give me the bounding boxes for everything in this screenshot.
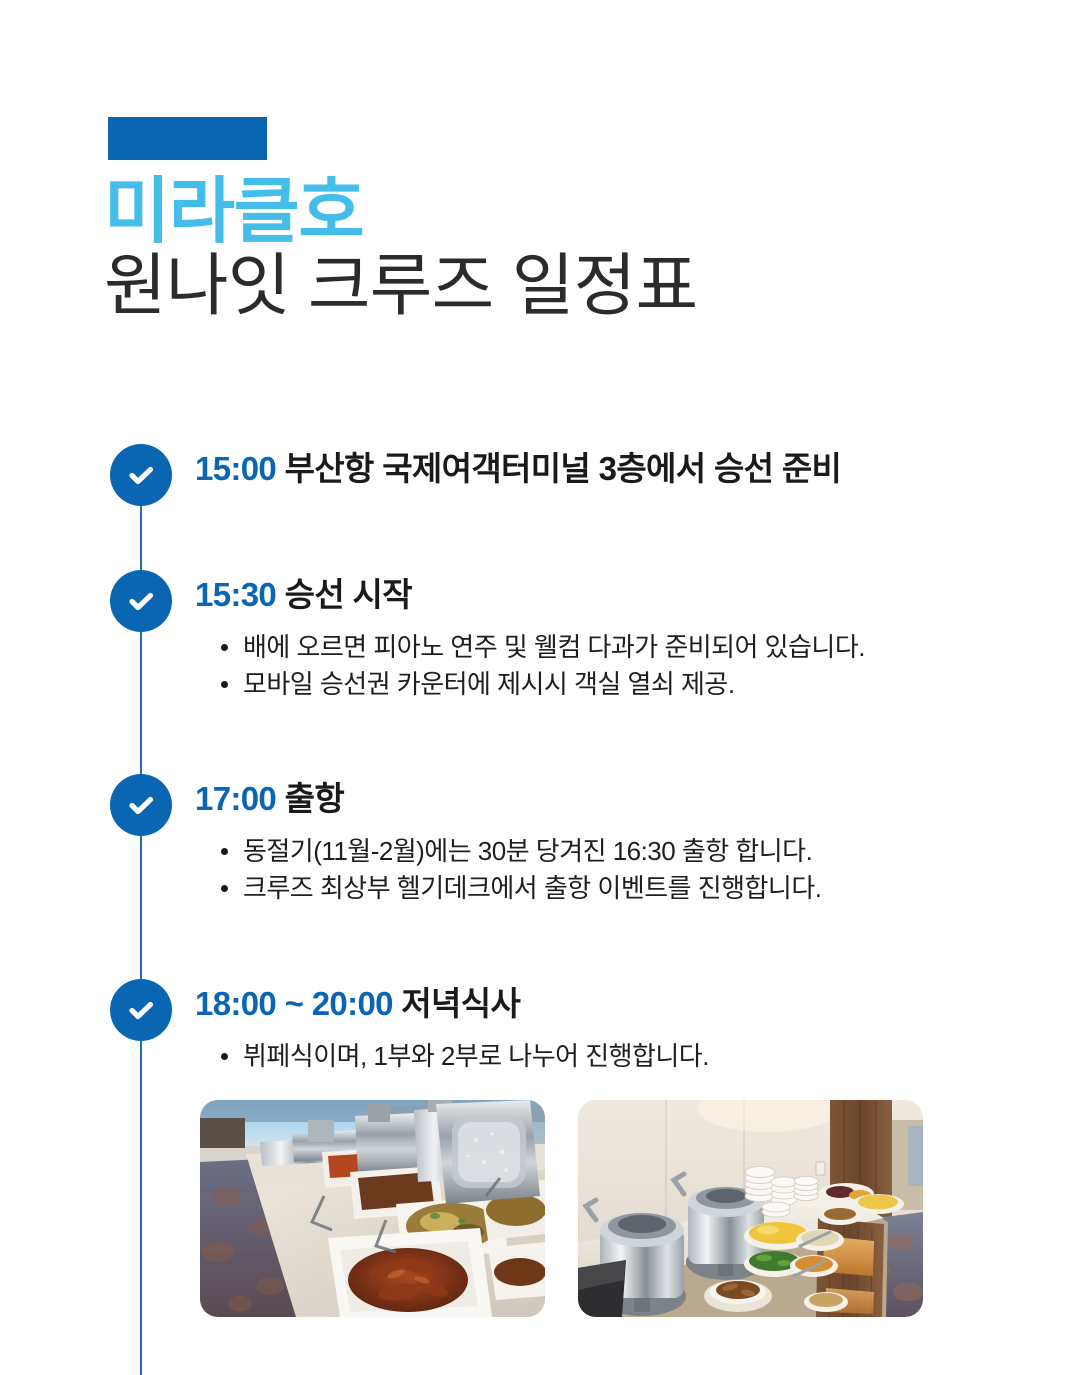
timeline-title: 출항	[285, 780, 344, 817]
check-circle-icon	[110, 774, 172, 836]
buffet-chafing-dishes-photo	[200, 1100, 545, 1317]
check-circle-icon	[110, 979, 172, 1041]
timeline-bullet-list: 뷔페식이며, 1부와 2부로 나누어 진행합니다.	[195, 1038, 1010, 1075]
timeline-heading: 15:00 부산항 국제여객터미널 3층에서 승선 준비	[195, 444, 1010, 489]
list-item: 모바일 승선권 카운터에 제시시 객실 열쇠 제공.	[221, 666, 1010, 703]
timeline-heading: 17:00 출항	[195, 774, 1010, 819]
list-item: 동절기(11월-2월)에는 30분 당겨진 16:30 출항 합니다.	[221, 833, 1010, 870]
timeline-heading: 15:30 승선 시작	[195, 570, 1010, 615]
timeline-time: 17:00	[195, 780, 276, 817]
check-circle-icon	[110, 444, 172, 506]
photo-gallery	[200, 1100, 940, 1317]
list-item: 배에 오르면 피아노 연주 및 웰컴 다과가 준비되어 있습니다.	[221, 629, 1010, 666]
timeline-title: 저녁식사	[401, 985, 520, 1022]
timeline-bullet-list: 배에 오르면 피아노 연주 및 웰컴 다과가 준비되어 있습니다. 모바일 승선…	[195, 629, 1010, 703]
check-circle-icon	[110, 570, 172, 632]
timeline-title: 부산항 국제여객터미널 3층에서 승선 준비	[285, 450, 842, 487]
timeline-heading: 18:00 ~ 20:00 저녁식사	[195, 979, 1010, 1024]
timeline-time: 15:30	[195, 576, 276, 613]
buffet-soup-station-photo	[578, 1100, 923, 1317]
timeline-time: 15:00	[195, 450, 276, 487]
timeline-bullet-list: 동절기(11월-2월)에는 30분 당겨진 16:30 출항 합니다. 크루즈 …	[195, 833, 1010, 907]
timeline-title: 승선 시작	[285, 576, 412, 613]
list-item: 크루즈 최상부 헬기데크에서 출항 이벤트를 진행합니다.	[221, 870, 1010, 907]
timeline-time: 18:00 ~ 20:00	[195, 985, 393, 1022]
list-item: 뷔페식이며, 1부와 2부로 나누어 진행합니다.	[221, 1038, 1010, 1075]
